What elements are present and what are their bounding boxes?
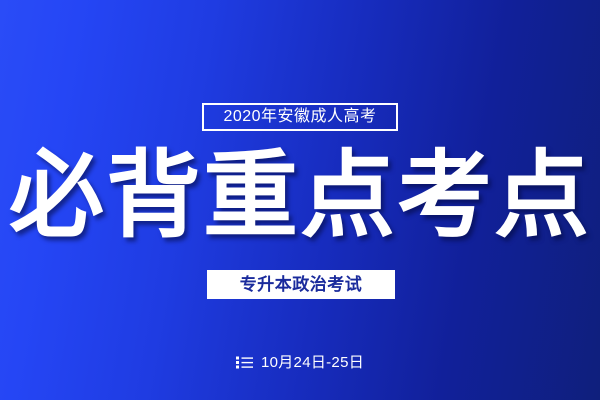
- subtitle-label: 专升本政治考试: [240, 276, 363, 293]
- promotional-banner: 2020年安徽成人高考 必背重点考点 专升本政治考试 10月24日-25日: [0, 0, 600, 400]
- top-badge: 2020年安徽成人高考: [202, 103, 398, 131]
- date-label: 10月24日-25日: [261, 355, 364, 370]
- list-icon: [236, 356, 253, 369]
- headline-text: 必背重点考点: [9, 148, 591, 243]
- headline: 必背重点考点: [0, 148, 600, 243]
- footer-date-row: 10月24日-25日: [0, 355, 600, 370]
- top-badge-label: 2020年安徽成人高考: [223, 109, 376, 125]
- subtitle-plate: 专升本政治考试: [207, 270, 395, 299]
